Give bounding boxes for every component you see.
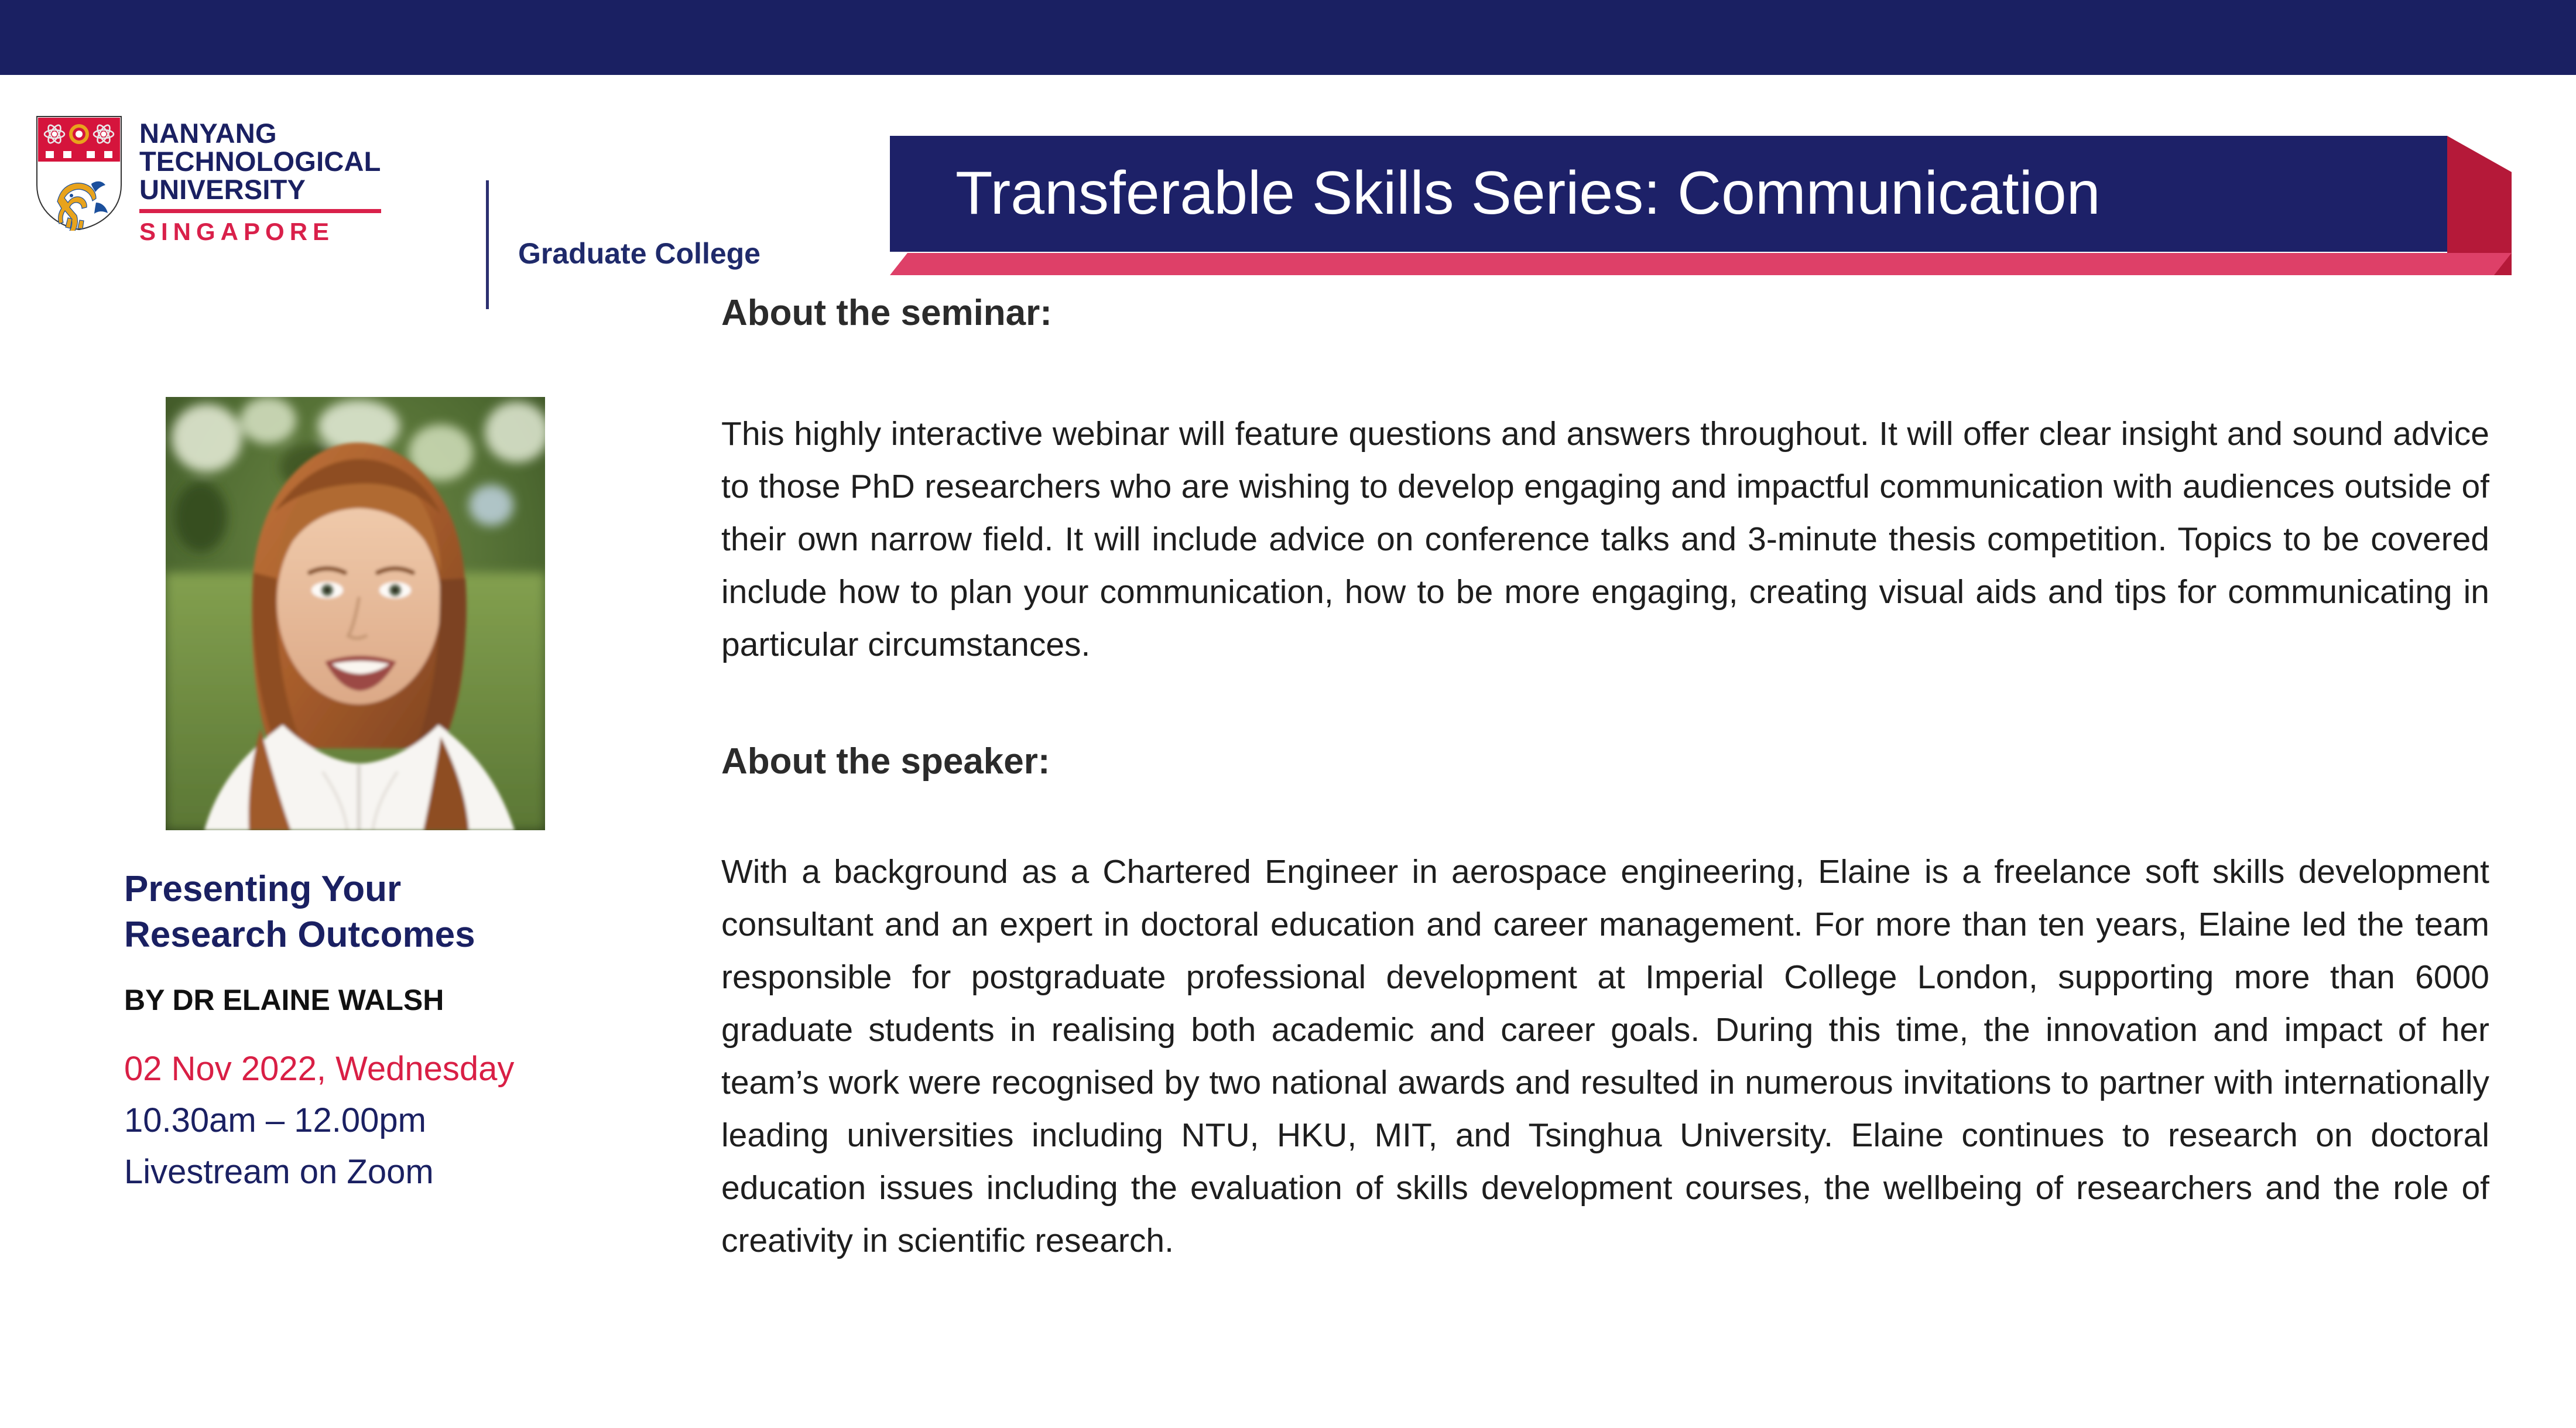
spacer-3 xyxy=(721,782,2489,845)
spacer-1 xyxy=(721,334,2489,407)
banner-bottom-panel xyxy=(890,253,2512,275)
talk-details: Presenting Your Research Outcomes BY DR … xyxy=(124,867,628,1198)
wordmark-line-2: TECHNOLOGICAL xyxy=(139,148,381,176)
banner-title-text: Transferable Skills Series: Communicatio… xyxy=(955,152,2419,234)
talk-title: Presenting Your Research Outcomes xyxy=(124,867,628,958)
about-seminar-heading: About the seminar: xyxy=(721,293,2489,334)
title-banner: Transferable Skills Series: Communicatio… xyxy=(890,136,2512,276)
speaker-photo xyxy=(166,397,545,830)
event-time: 10.30am – 12.00pm xyxy=(124,1095,628,1146)
wordmark-line-4: SINGAPORE xyxy=(139,218,381,246)
about-seminar-body: This highly interactive webinar will fea… xyxy=(721,407,2489,671)
body-content: About the seminar: This highly interacti… xyxy=(721,293,2489,1267)
top-navy-band xyxy=(0,0,2576,75)
event-mode: Livestream on Zoom xyxy=(124,1146,628,1198)
wordmark-rule xyxy=(139,209,381,213)
ntu-wordmark: NANYANG TECHNOLOGICAL UNIVERSITY SINGAPO… xyxy=(139,115,381,246)
wordmark-line-1: NANYANG xyxy=(139,119,381,148)
ntu-crest-icon xyxy=(35,115,123,231)
header-logo-row: NANYANG TECHNOLOGICAL UNIVERSITY SINGAPO… xyxy=(0,75,820,268)
talk-title-line-2: Research Outcomes xyxy=(124,912,628,958)
header-divider xyxy=(486,180,489,309)
about-speaker-body: With a background as a Chartered Enginee… xyxy=(721,845,2489,1267)
ntu-logo: NANYANG TECHNOLOGICAL UNIVERSITY SINGAPO… xyxy=(35,115,381,246)
graduate-college-label: Graduate College xyxy=(518,237,761,270)
talk-title-line-1: Presenting Your xyxy=(124,867,628,912)
presenter-name: BY DR ELAINE WALSH xyxy=(124,982,628,1018)
event-date: 02 Nov 2022, Wednesday xyxy=(124,1043,628,1095)
spacer-2 xyxy=(721,671,2489,741)
wordmark-line-3: UNIVERSITY xyxy=(139,176,381,204)
about-speaker-heading: About the speaker: xyxy=(721,741,2489,782)
